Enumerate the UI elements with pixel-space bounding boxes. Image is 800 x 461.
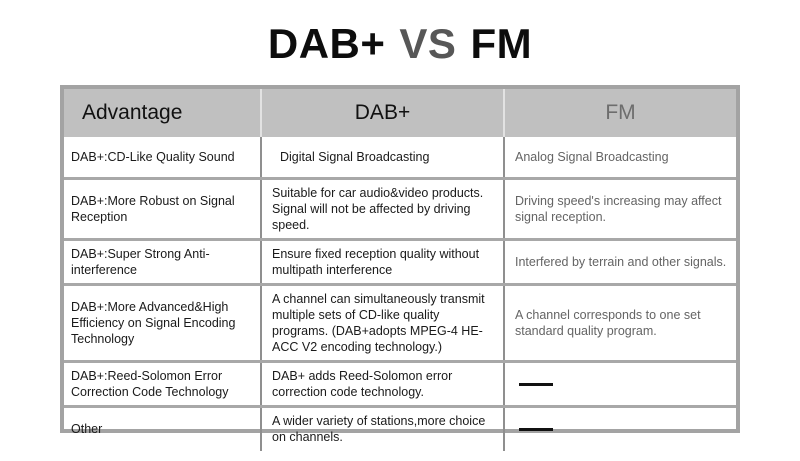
- comparison-page: DAB+VSFM Advantage DAB+ FM DAB+:CD-Like …: [0, 0, 800, 461]
- cell-dab: Ensure fixed reception quality without m…: [261, 239, 504, 284]
- empty-dash-icon: [519, 428, 553, 431]
- table-row: Other A wider variety of stations,more c…: [64, 406, 736, 451]
- comparison-table: Advantage DAB+ FM DAB+:CD-Like Quality S…: [64, 89, 736, 451]
- cell-advantage: DAB+:More Advanced&High Efficiency on Si…: [64, 284, 261, 361]
- cell-advantage: DAB+:CD-Like Quality Sound: [64, 137, 261, 178]
- cell-dab: Digital Signal Broadcasting: [261, 137, 504, 178]
- header-row: Advantage DAB+ FM: [64, 89, 736, 137]
- cell-fm: [504, 406, 736, 451]
- header-dab-plus: DAB+: [261, 89, 504, 137]
- cell-fm: Interfered by terrain and other signals.: [504, 239, 736, 284]
- cell-dab: A wider variety of stations,more choice …: [261, 406, 504, 451]
- page-title: DAB+VSFM: [0, 20, 800, 68]
- cell-advantage: Other: [64, 406, 261, 451]
- cell-fm: A channel corresponds to one set standar…: [504, 284, 736, 361]
- cell-fm: Driving speed's increasing may affect si…: [504, 178, 736, 239]
- table-header: Advantage DAB+ FM: [64, 89, 736, 137]
- header-advantage: Advantage: [64, 89, 261, 137]
- table-row: DAB+:CD-Like Quality Sound Digital Signa…: [64, 137, 736, 178]
- table-body: DAB+:CD-Like Quality Sound Digital Signa…: [64, 137, 736, 451]
- table-row: DAB+:Super Strong Anti-interference Ensu…: [64, 239, 736, 284]
- title-fm: FM: [470, 20, 532, 67]
- comparison-table-frame: Advantage DAB+ FM DAB+:CD-Like Quality S…: [60, 85, 740, 433]
- cell-dab: Suitable for car audio&video products. S…: [261, 178, 504, 239]
- header-fm: FM: [504, 89, 736, 137]
- cell-fm: Analog Signal Broadcasting: [504, 137, 736, 178]
- empty-dash-icon: [519, 383, 553, 386]
- table-row: DAB+:Reed-Solomon Error Correction Code …: [64, 361, 736, 406]
- title-vs: VS: [399, 20, 456, 67]
- cell-dab: DAB+ adds Reed-Solomon error correction …: [261, 361, 504, 406]
- cell-advantage: DAB+:More Robust on Signal Reception: [64, 178, 261, 239]
- table-row: DAB+:More Advanced&High Efficiency on Si…: [64, 284, 736, 361]
- cell-advantage: DAB+:Super Strong Anti-interference: [64, 239, 261, 284]
- table-row: DAB+:More Robust on Signal Reception Sui…: [64, 178, 736, 239]
- cell-fm: [504, 361, 736, 406]
- cell-dab: A channel can simultaneously transmit mu…: [261, 284, 504, 361]
- title-dab-plus: DAB+: [268, 20, 386, 67]
- cell-advantage: DAB+:Reed-Solomon Error Correction Code …: [64, 361, 261, 406]
